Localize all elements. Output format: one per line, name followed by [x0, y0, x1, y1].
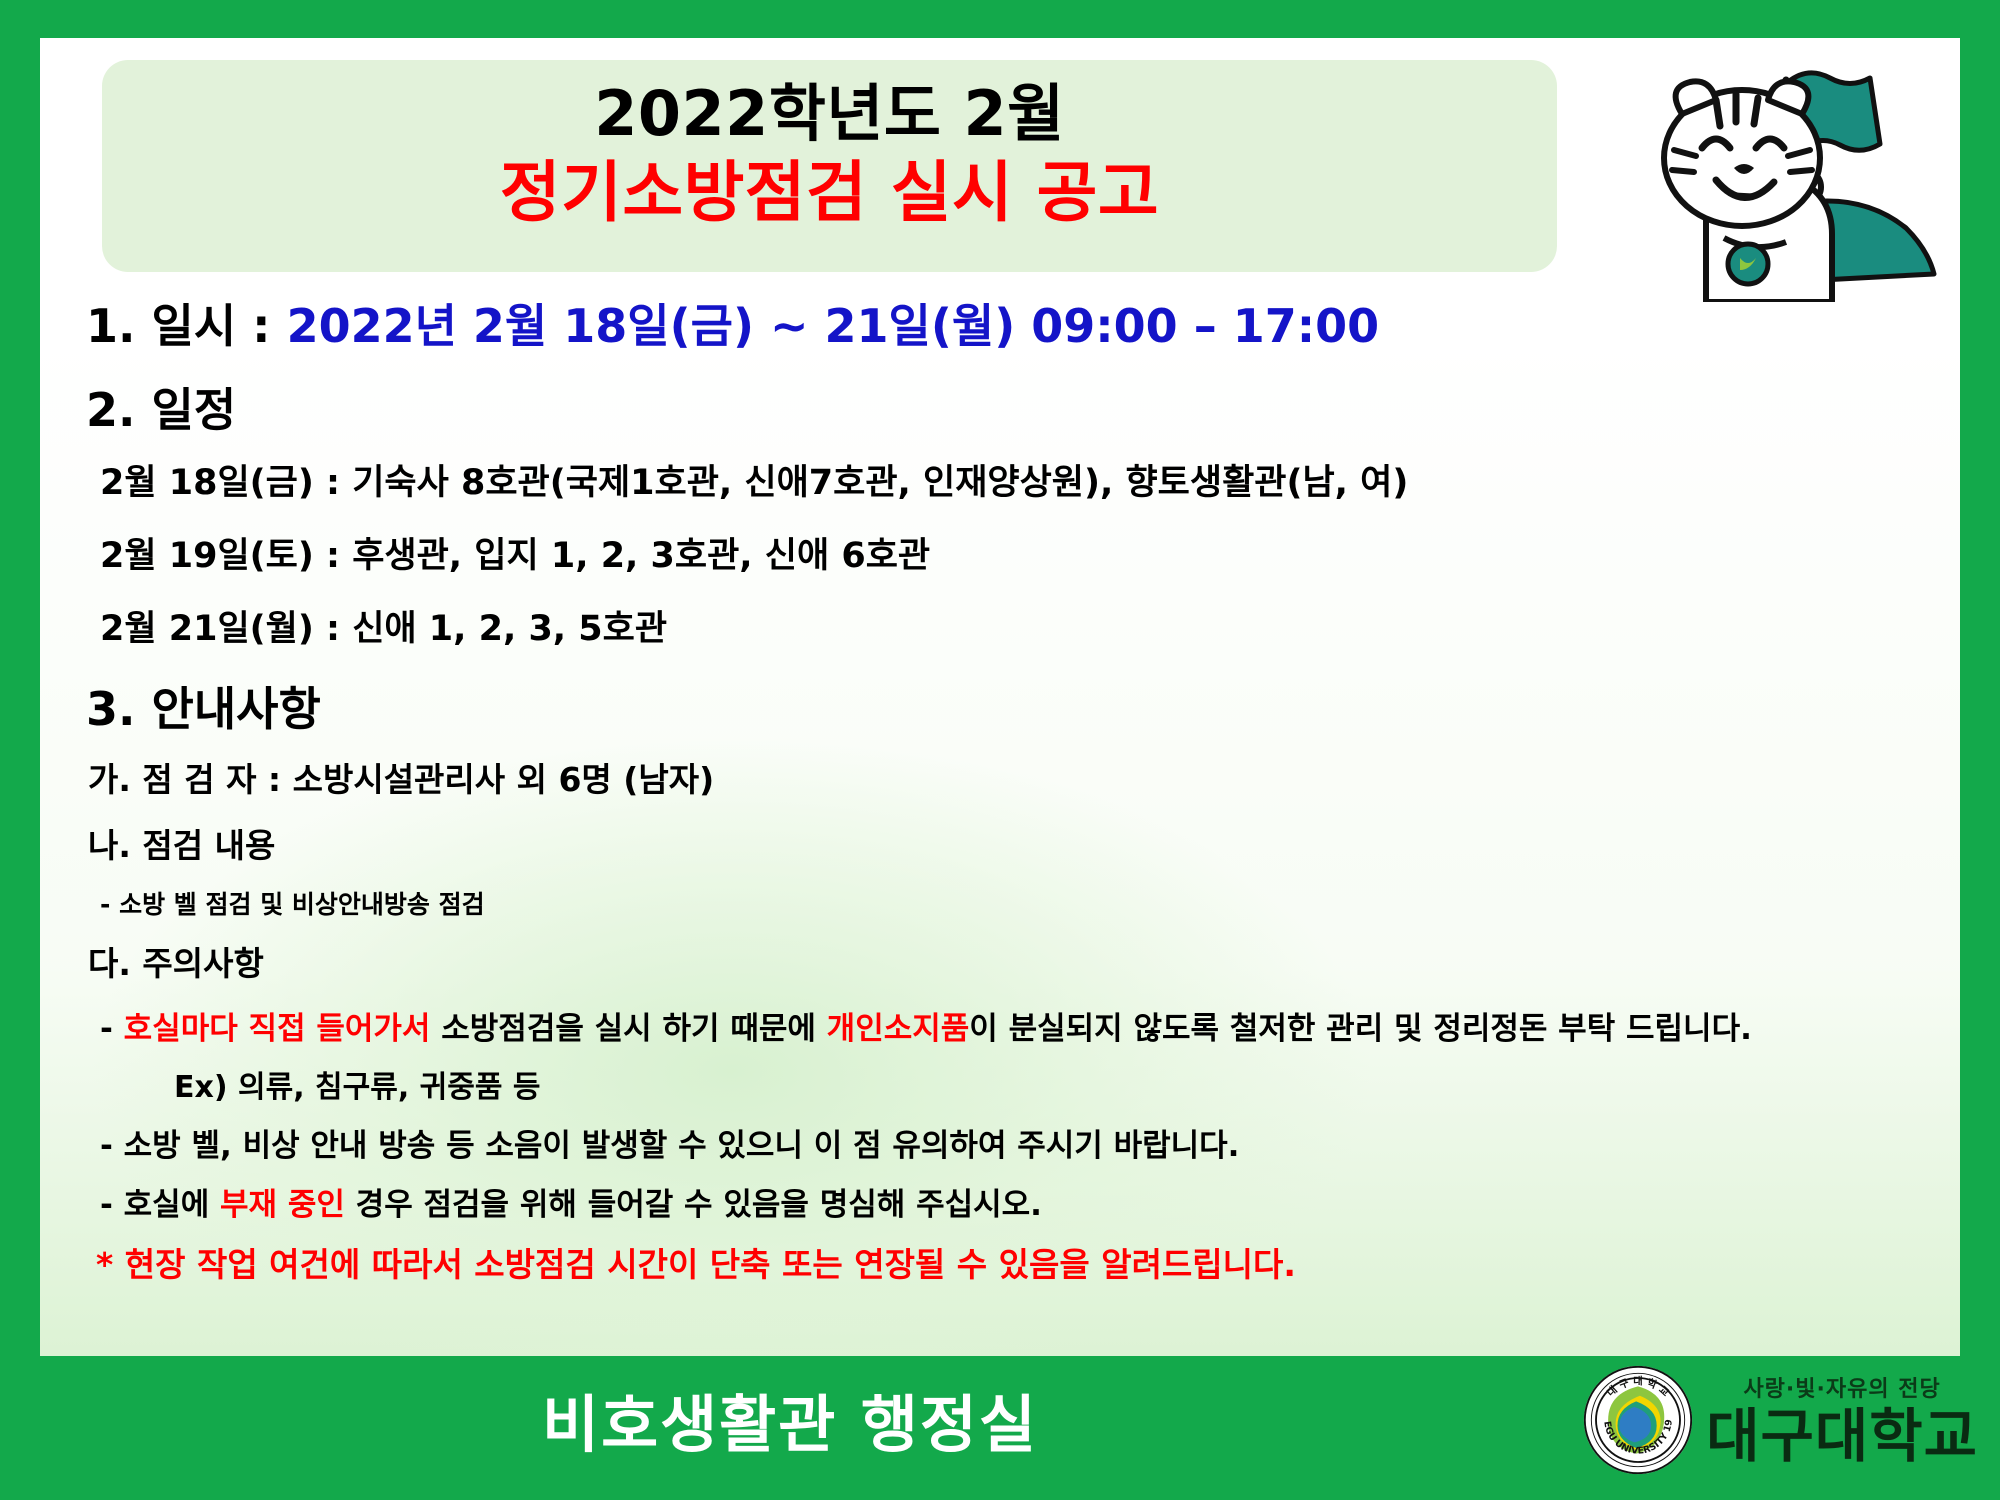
caution-3-highlight: 부재 중인 — [220, 1187, 345, 1223]
title-banner: 2022학년도 2월 정기소방점검 실시 공고 — [102, 60, 1557, 272]
content-sheet: 2022학년도 2월 정기소방점검 실시 공고 — [40, 38, 1960, 1356]
caution-1-highlight-2: 개인소지품 — [827, 1011, 970, 1047]
caution-heading: 다. 주의사항 — [88, 937, 1914, 985]
datetime-label: 1. 일시 : — [86, 299, 287, 353]
caution-3-head: - 호실에 — [100, 1187, 220, 1223]
poster-footer: 비호생활관 행정실 대 구 대 학 교 — [0, 1356, 2000, 1500]
inspector-line: 가. 점 검 자 : 소방시설관리사 외 6명 (남자) — [88, 753, 1914, 801]
caution-item-1: - 호실마다 직접 들어가서 소방점검을 실시 하기 때문에 개인소지품이 분실… — [100, 1003, 1914, 1048]
caution-1-highlight-1: 호실마다 직접 들어가서 — [124, 1011, 431, 1047]
caution-item-3: - 호실에 부재 중인 경우 점검을 위해 들어갈 수 있음을 명심해 주십시오… — [100, 1179, 1914, 1224]
title-line-year: 2022학년도 2월 — [102, 60, 1557, 145]
university-name: 대구대학교 — [1706, 1407, 1978, 1465]
datetime-line: 1. 일시 : 2022년 2월 18일(금) ~ 21일(월) 09:00 –… — [86, 290, 1914, 356]
university-seal-icon: 대 구 대 학 교 DAEGU UNIVERSITY 1956 — [1582, 1364, 1694, 1480]
footnote-line: * 현장 작업 여건에 따라서 소방점검 시간이 단축 또는 연장될 수 있음을… — [96, 1238, 1914, 1286]
info-heading: 3. 안내사항 — [86, 673, 1914, 739]
university-slogan: 사랑·빛·자유의 전당 — [1706, 1379, 1978, 1401]
content-item: - 소방 벨 점검 및 비상안내방송 점검 — [100, 885, 1914, 921]
caution-1-mid: 소방점검을 실시 하기 때문에 — [430, 1011, 826, 1047]
datetime-value: 2022년 2월 18일(금) ~ 21일(월) 09:00 – 17:00 — [287, 299, 1380, 353]
schedule-item: 2월 19일(토) : 후생관, 입지 1, 2, 3호관, 신애 6호관 — [100, 527, 1914, 578]
university-logo: 대 구 대 학 교 DAEGU UNIVERSITY 1956 사랑·빛·자유의… — [1582, 1364, 1978, 1480]
caution-1-dash: - — [100, 1011, 124, 1047]
white-tiger-mascot — [1510, 52, 1940, 302]
caution-3-tail: 경우 점검을 위해 들어갈 수 있음을 명심해 주십시오. — [345, 1187, 1042, 1223]
caution-item-2: - 소방 벨, 비상 안내 방송 등 소음이 발생할 수 있으니 이 점 유의하… — [100, 1120, 1914, 1165]
university-wordmark: 사랑·빛·자유의 전당 대구대학교 — [1706, 1379, 1978, 1465]
schedule-heading: 2. 일정 — [86, 374, 1914, 440]
caution-1-example: Ex) 의류, 침구류, 귀중품 등 — [174, 1062, 1914, 1106]
poster-root: 2022학년도 2월 정기소방점검 실시 공고 — [0, 0, 2000, 1500]
schedule-item: 2월 21일(월) : 신애 1, 2, 3, 5호관 — [100, 600, 1914, 651]
schedule-item: 2월 18일(금) : 기숙사 8호관(국제1호관, 신애7호관, 인재양상원)… — [100, 454, 1914, 505]
caution-1-tail: 이 분실되지 않도록 철저한 관리 및 정리정돈 부탁 드립니다. — [969, 1011, 1752, 1047]
notice-body: 1. 일시 : 2022년 2월 18일(금) ~ 21일(월) 09:00 –… — [40, 290, 1960, 1286]
title-line-subject: 정기소방점검 실시 공고 — [102, 145, 1557, 226]
content-heading: 나. 점검 내용 — [88, 819, 1914, 867]
